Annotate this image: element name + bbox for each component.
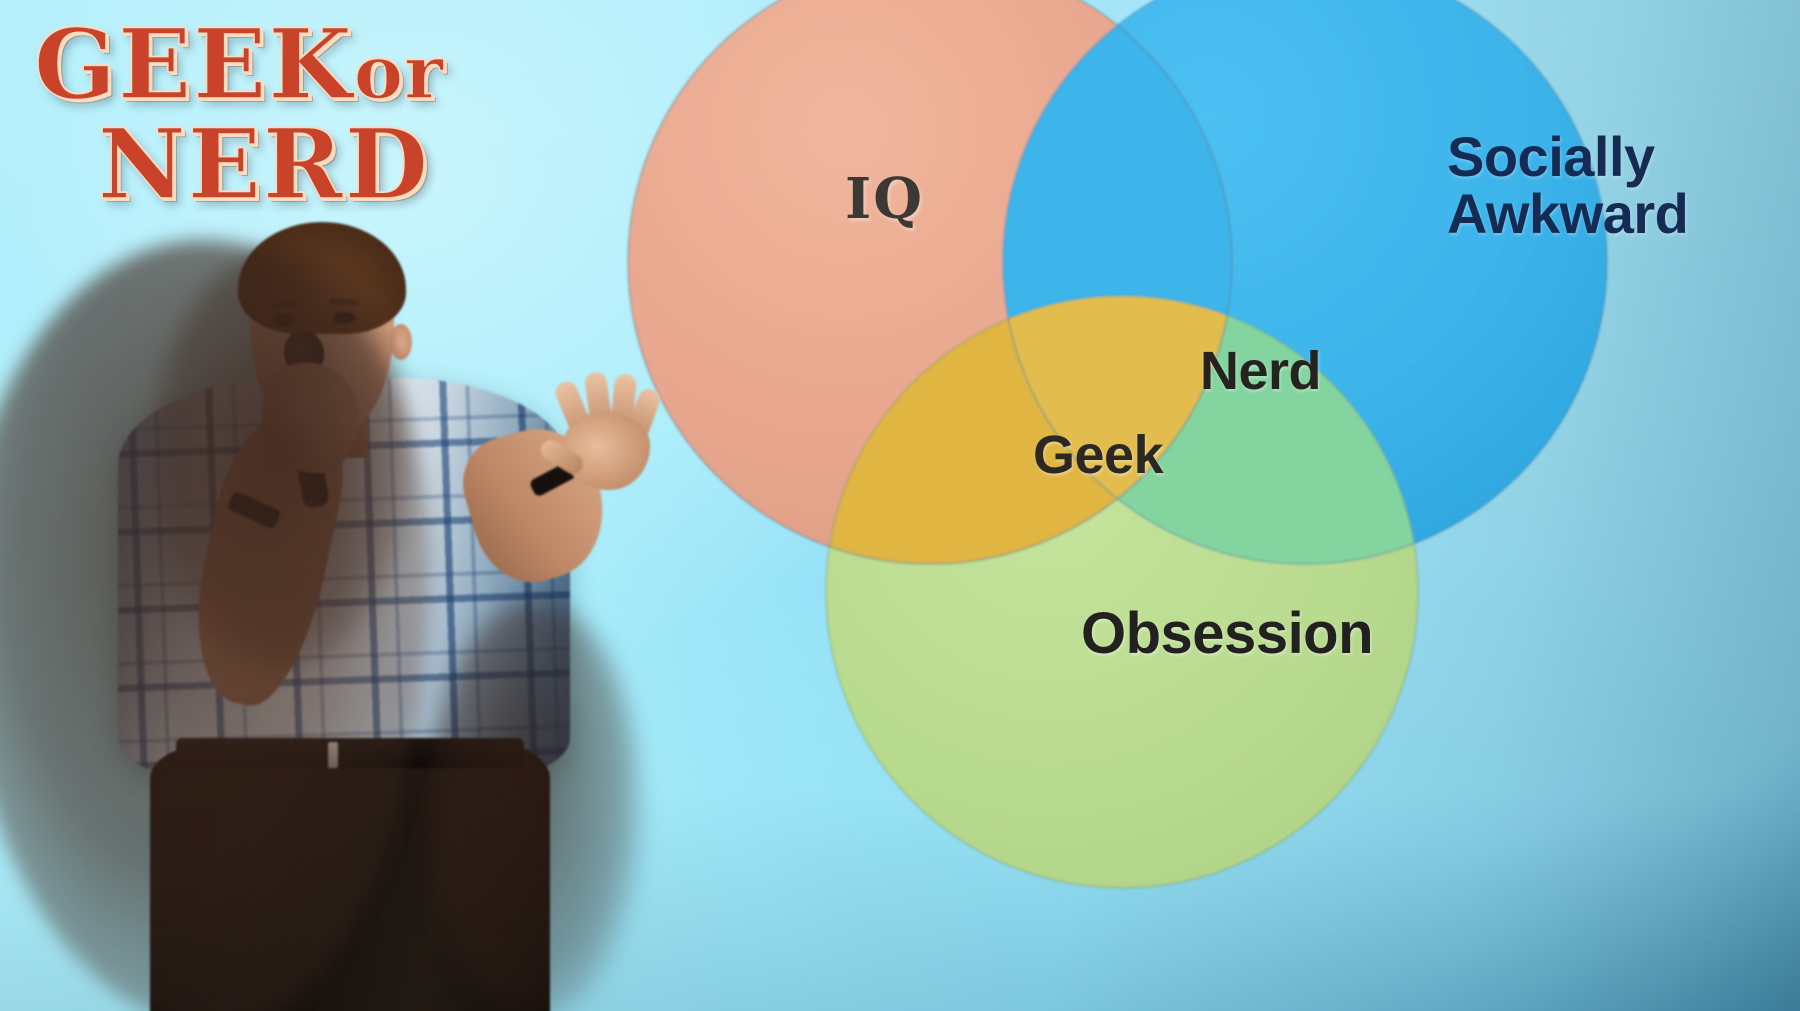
projection-screen-background xyxy=(0,0,1800,1011)
slide-screenshot: IQ Socially Awkward Nerd Geek Obsession … xyxy=(0,0,1800,1011)
screen-seam xyxy=(1188,0,1191,1011)
